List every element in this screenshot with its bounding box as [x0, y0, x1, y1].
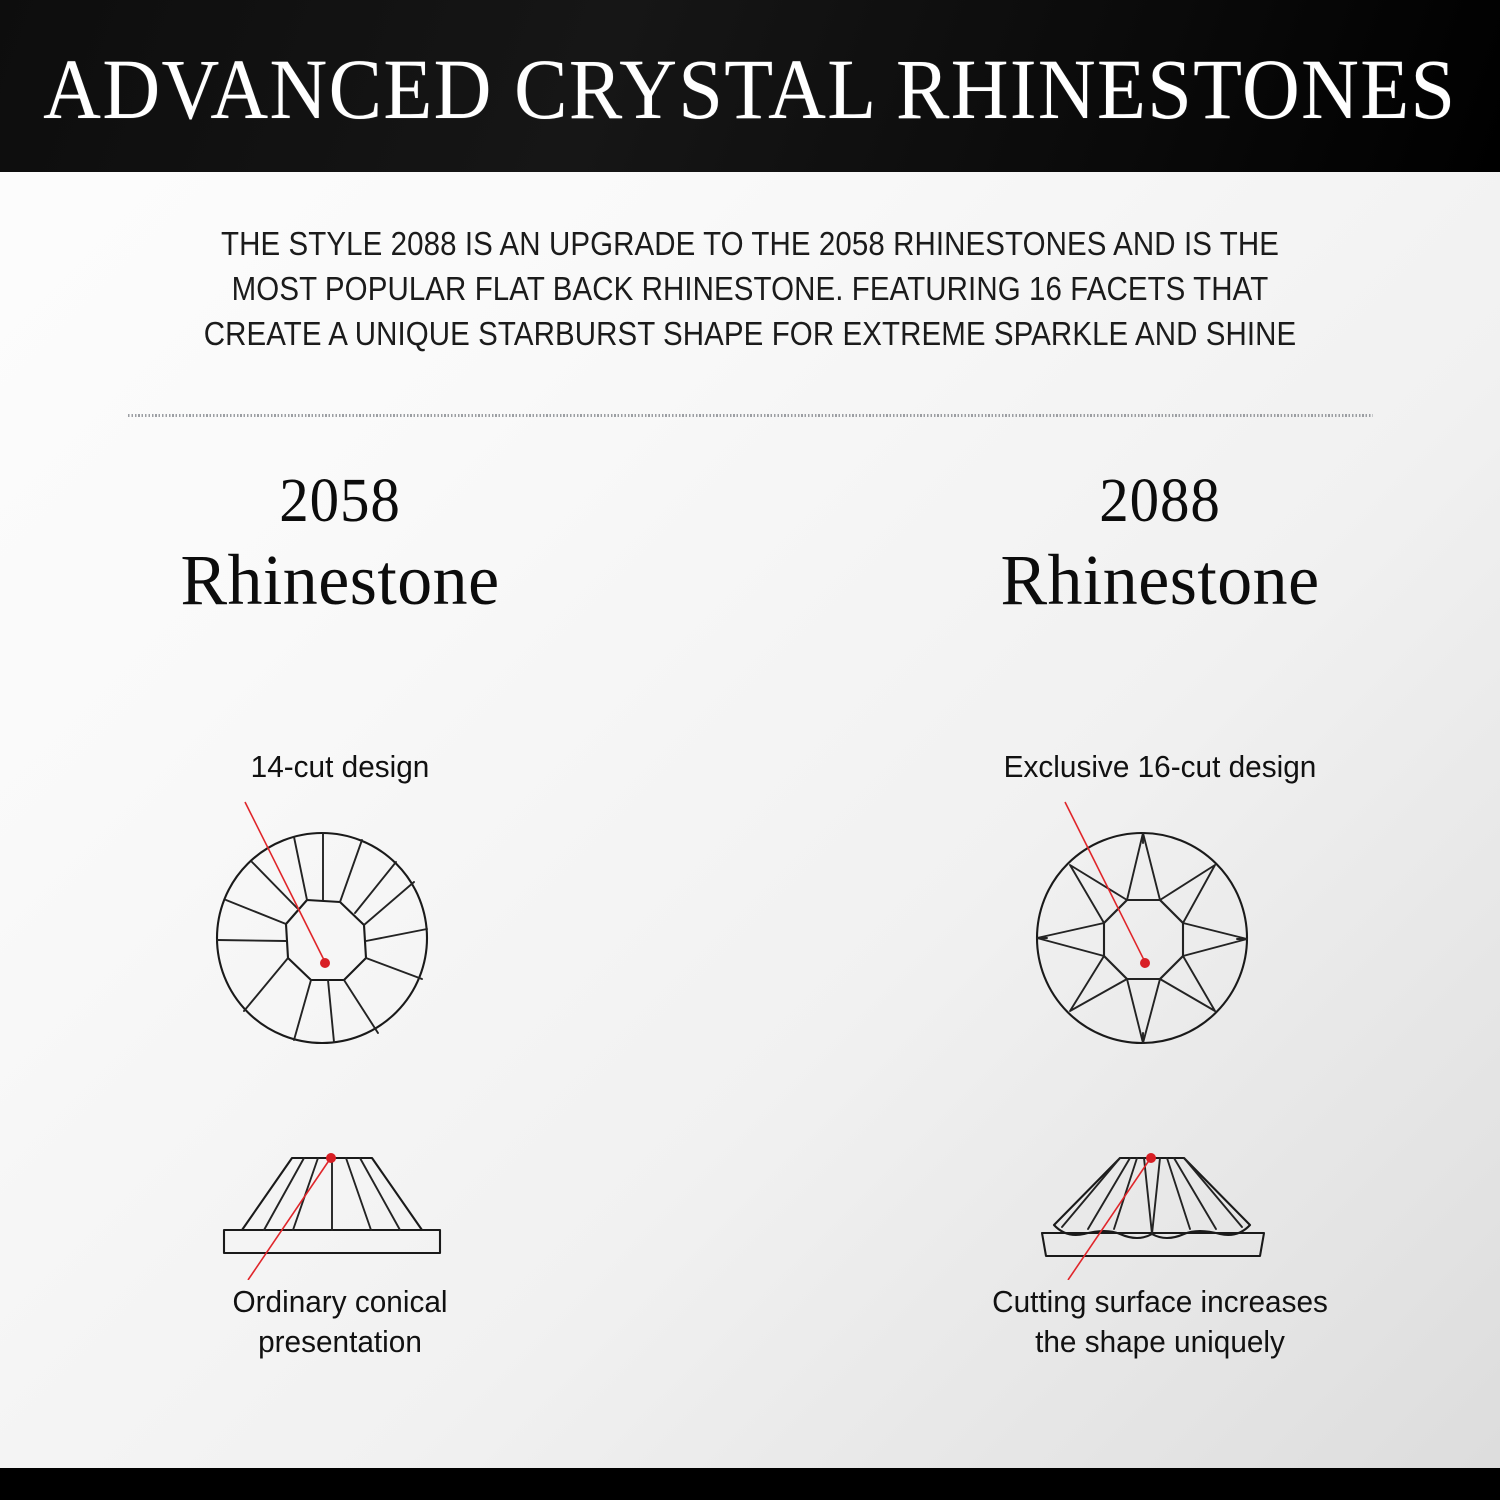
intro-paragraph: THE STYLE 2088 IS AN UPGRADE TO THE 2058… — [196, 222, 1305, 357]
svg-2088-top-view — [1002, 790, 1302, 1090]
heading-2088-code: 2088 — [866, 470, 1455, 532]
svg-2088-side-view — [1002, 1130, 1302, 1280]
footer-bar — [0, 1468, 1500, 1500]
diagram-2058-side-view — [182, 1130, 482, 1280]
leader-annotation-2058-side — [248, 1153, 336, 1280]
label-16-cut-design: Exclusive 16-cut design — [862, 748, 1457, 786]
column-2088: 2088 Rhinestone — [850, 470, 1470, 616]
stone-center-octagon — [286, 900, 366, 980]
heading-2058-word: Rhinestone — [39, 544, 640, 616]
diagram-2088-side-view — [1002, 1130, 1302, 1280]
heading-2058: 2058 Rhinestone — [30, 470, 650, 616]
caption-2088-line-1: Cutting surface increases — [862, 1282, 1457, 1322]
caption-2058: Ordinary conical presentation — [42, 1282, 637, 1362]
caption-2088-line-2: the shape uniquely — [862, 1322, 1457, 1362]
intro-line-1: THE STYLE 2088 IS AN UPGRADE TO THE 2058… — [196, 222, 1305, 267]
header-bar: ADVANCED CRYSTAL RHINESTONES — [0, 0, 1500, 172]
leader-annotation-2088-top — [1065, 802, 1150, 968]
page-title: ADVANCED CRYSTAL RHINESTONES — [43, 40, 1456, 132]
label-14-cut-design: 14-cut design — [42, 748, 637, 786]
stone-base-slab — [1042, 1233, 1264, 1256]
svg-2058-side-view — [182, 1130, 482, 1280]
stone-outline-circle — [217, 833, 427, 1043]
column-2058: 2058 Rhinestone — [30, 470, 650, 616]
stone-starburst-facets — [1062, 1158, 1242, 1234]
heading-2088-word: Rhinestone — [859, 544, 1460, 616]
diagram-2058-top-view — [182, 790, 482, 1090]
starburst-point-arms — [1037, 833, 1247, 1043]
heading-2088: 2088 Rhinestone — [850, 470, 1470, 616]
caption-2058-line-2: presentation — [42, 1322, 637, 1362]
leader-annotation-2088-side — [1068, 1153, 1156, 1280]
svg-2058-top-view — [182, 790, 482, 1090]
caption-2058-line-1: Ordinary conical — [42, 1282, 637, 1322]
diagram-2088-top-view — [1002, 790, 1302, 1090]
intro-line-3: CREATE A UNIQUE STARBURST SHAPE FOR EXTR… — [196, 312, 1305, 357]
intro-line-2: MOST POPULAR FLAT BACK RHINESTONE. FEATU… — [196, 267, 1305, 312]
heading-2058-code: 2058 — [46, 470, 635, 532]
stone-base-slab — [224, 1230, 440, 1253]
caption-2088: Cutting surface increases the shape uniq… — [862, 1282, 1457, 1362]
dotted-divider — [128, 414, 1373, 417]
infographic-page: ADVANCED CRYSTAL RHINESTONES THE STYLE 2… — [0, 0, 1500, 1500]
